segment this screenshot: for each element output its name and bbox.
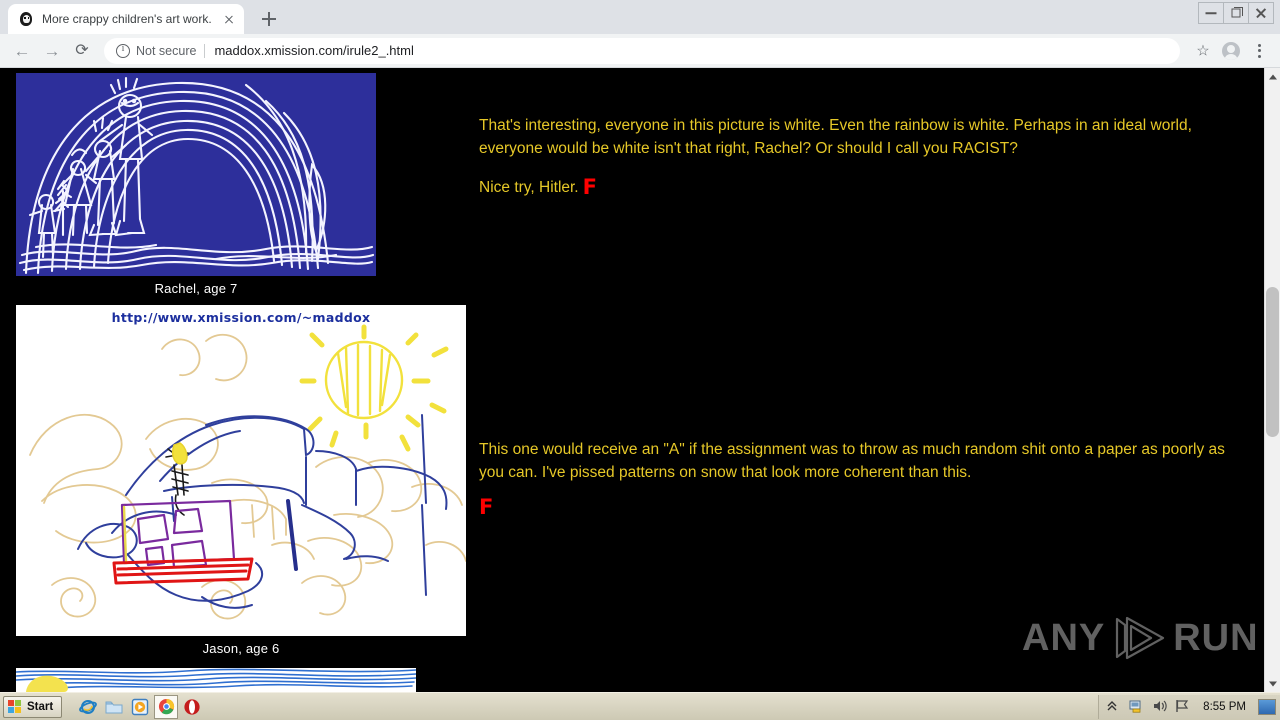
partial-drawing-svg — [16, 668, 416, 692]
media-player-icon[interactable] — [128, 695, 152, 719]
system-tray: 8:55 PM — [1098, 695, 1280, 719]
windows-flag-icon — [8, 700, 23, 714]
page-scrollbar[interactable] — [1264, 68, 1280, 692]
clock[interactable]: 8:55 PM — [1203, 701, 1246, 713]
browser-toolbar: ← → ⟳ Not secure maddox.xmission.com/iru… — [0, 34, 1280, 68]
maximize-button[interactable] — [1223, 2, 1249, 24]
scroll-down-button[interactable] — [1265, 675, 1280, 692]
show-hidden-icons-icon[interactable] — [1106, 699, 1122, 715]
artwork-entry-jason: http://www.xmission.com/~maddox Jason, a… — [16, 305, 466, 656]
rachel-drawing-svg — [16, 73, 376, 276]
anyrun-run-text: RUN — [1173, 619, 1258, 657]
chrome-icon[interactable] — [154, 695, 178, 719]
flag-icon[interactable] — [1175, 699, 1191, 715]
security-status: Not secure — [136, 44, 196, 58]
windows-taskbar: Start — [0, 692, 1280, 720]
url-text: maddox.xmission.com/irule2_.html — [214, 43, 413, 58]
reload-icon: ⟳ — [75, 43, 88, 59]
window-controls — [1199, 2, 1274, 24]
grade-badge: F — [583, 175, 597, 199]
minimize-button[interactable] — [1198, 2, 1224, 24]
back-button[interactable]: ← — [8, 37, 36, 65]
jason-drawing-svg — [16, 305, 466, 636]
three-dot-menu-icon[interactable] — [1246, 38, 1272, 64]
back-arrow-icon: ← — [14, 42, 31, 59]
profile-avatar-icon[interactable] — [1218, 38, 1244, 64]
close-window-button[interactable] — [1248, 2, 1274, 24]
childrens-drawing-jason: http://www.xmission.com/~maddox — [16, 305, 466, 636]
network-icon[interactable] — [1129, 699, 1145, 715]
verdict-text: Nice try, Hitler. — [479, 179, 579, 196]
che-guevara-favicon — [18, 11, 34, 27]
scroll-up-button[interactable] — [1265, 68, 1280, 85]
star-glyph: ☆ — [1196, 41, 1209, 59]
commentary-rachel: That's interesting, everyone in this pic… — [479, 114, 1241, 199]
commentary-text: This one would receive an "A" if the ass… — [479, 438, 1241, 484]
internet-explorer-icon[interactable] — [76, 695, 100, 719]
opera-icon[interactable] — [180, 695, 204, 719]
show-desktop-button[interactable] — [1258, 699, 1276, 715]
artwork-entry-rachel: Rachel, age 7 — [16, 73, 376, 296]
childrens-drawing-rachel — [16, 73, 376, 276]
address-bar[interactable]: Not secure maddox.xmission.com/irule2_.h… — [104, 38, 1180, 64]
anyrun-any-text: ANY — [1022, 619, 1105, 657]
play-triangle-logo-icon — [1111, 615, 1167, 661]
close-icon[interactable] — [220, 10, 238, 28]
anyrun-watermark: ANY RUN — [1022, 615, 1259, 661]
artwork-caption: Jason, age 6 — [16, 636, 466, 656]
commentary-text: That's interesting, everyone in this pic… — [479, 114, 1241, 160]
info-icon[interactable] — [116, 44, 130, 58]
start-button[interactable]: Start — [3, 696, 62, 718]
tab-strip: More crappy children's art work. — [0, 0, 1280, 34]
forward-arrow-icon: → — [44, 42, 61, 59]
childrens-drawing-partial — [16, 668, 416, 692]
verdict-line: Nice try, Hitler.F — [479, 176, 1241, 199]
page-content: Rachel, age 7 — [0, 68, 1280, 692]
new-tab-button[interactable] — [256, 8, 282, 30]
grade-badge: F — [479, 496, 1241, 519]
commentary-jason: This one would receive an "A" if the ass… — [479, 438, 1241, 519]
start-label: Start — [27, 701, 53, 713]
bookmark-star-icon[interactable]: ☆ — [1190, 38, 1216, 64]
browser-tab[interactable]: More crappy children's art work. — [8, 4, 244, 34]
folder-icon[interactable] — [102, 695, 126, 719]
scrollbar-thumb[interactable] — [1266, 287, 1279, 437]
omnibox-divider — [204, 44, 205, 58]
artwork-watermark: http://www.xmission.com/~maddox — [16, 310, 466, 325]
volume-icon[interactable] — [1152, 699, 1168, 715]
forward-button[interactable]: → — [38, 37, 66, 65]
tab-title: More crappy children's art work. — [42, 12, 220, 26]
reload-button[interactable]: ⟳ — [68, 37, 96, 65]
artwork-caption: Rachel, age 7 — [16, 276, 376, 296]
quick-launch-bar — [76, 695, 204, 719]
